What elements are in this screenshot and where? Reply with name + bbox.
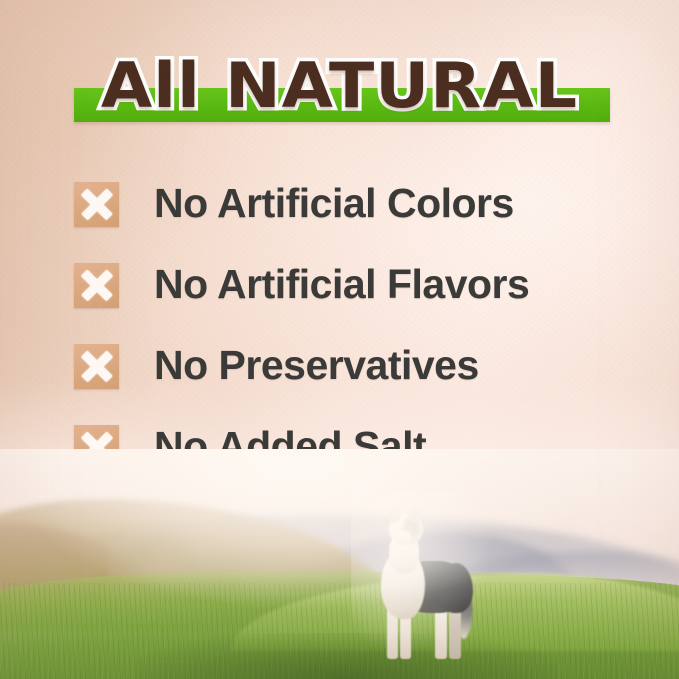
x-mark-icon <box>74 182 119 227</box>
dog-rump <box>439 563 473 613</box>
product-feature-poster: All NATURAL No Artificial Colors No Arti… <box>0 0 679 679</box>
claim-label: No Artificial Colors <box>154 176 514 230</box>
x-mark-icon <box>74 263 119 308</box>
x-mark-icon <box>74 344 119 389</box>
dog-hind-leg <box>449 609 461 659</box>
claim-label: No Preservatives <box>154 338 479 392</box>
claim-row: No Preservatives <box>74 338 634 419</box>
claim-row: No Artificial Colors <box>74 176 634 257</box>
headline-banner: All NATURAL <box>0 52 679 130</box>
claim-label: No Artificial Flavors <box>154 257 529 311</box>
claim-row: No Artificial Flavors <box>74 257 634 338</box>
landscape-photo <box>0 449 679 679</box>
dog-snout <box>395 531 411 545</box>
dog-hind-leg <box>435 607 447 659</box>
grass-shadow <box>136 633 557 679</box>
dog <box>367 505 475 661</box>
headline-title: All NATURAL <box>0 52 679 120</box>
